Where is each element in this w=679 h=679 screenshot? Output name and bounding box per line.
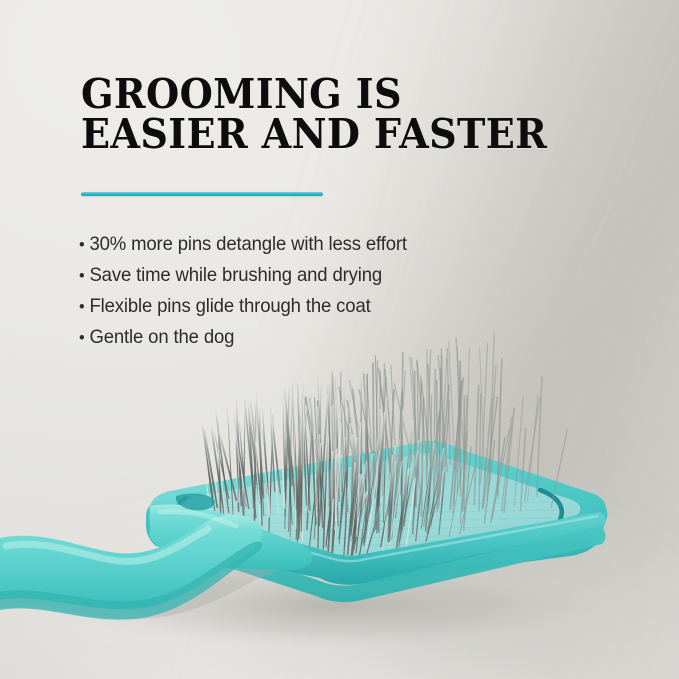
feature-bullet-text: Flexible pins glide through the coat: [89, 291, 370, 321]
feature-bullet-text: 30% more pins detangle with less effort: [89, 229, 406, 259]
product-image-slicker-brush: [0, 330, 679, 679]
bullet-point-icon: •: [79, 292, 89, 322]
bullet-point-icon: •: [79, 230, 89, 260]
feature-bullet-text: Save time while brushing and drying: [89, 260, 382, 290]
page-title: GROOMING IS EASIER AND FASTER: [81, 74, 565, 154]
product-feature-image: GROOMING IS EASIER AND FASTER •30% more …: [0, 0, 679, 679]
accent-divider: [81, 192, 323, 196]
brush-pin: [244, 412, 245, 515]
feature-bullet-item: •Flexible pins glide through the coat: [79, 291, 535, 322]
bullet-point-icon: •: [79, 261, 89, 291]
feature-bullet-item: •Save time while brushing and drying: [79, 260, 535, 291]
copy-block: GROOMING IS EASIER AND FASTER: [81, 74, 601, 154]
feature-bullet-item: •30% more pins detangle with less effort: [79, 229, 535, 260]
headline-line-2: EASIER AND FASTER: [81, 114, 565, 154]
